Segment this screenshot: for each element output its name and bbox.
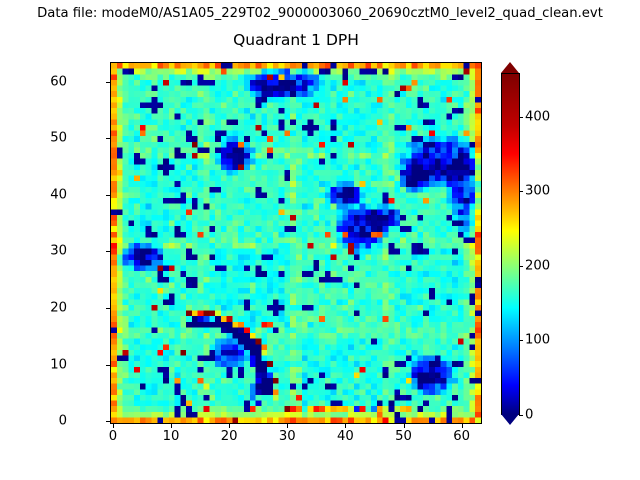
y-tick-label: 0 bbox=[59, 414, 67, 429]
y-tick-label: 20 bbox=[50, 301, 67, 316]
colorbar-tick-mark bbox=[519, 266, 523, 267]
y-tick-mark bbox=[106, 421, 110, 422]
matplotlib-figure: Data file: modeM0/AS1A05_229T02_90000030… bbox=[0, 0, 640, 480]
colorbar-tick-mark bbox=[519, 191, 523, 192]
x-tick-mark bbox=[113, 424, 114, 428]
x-tick-mark bbox=[229, 424, 230, 428]
x-tick-label: 10 bbox=[163, 429, 180, 444]
x-tick-label: 0 bbox=[109, 429, 117, 444]
heatmap-axes bbox=[110, 62, 482, 424]
y-tick-mark bbox=[106, 365, 110, 366]
colorbar-gradient bbox=[501, 73, 520, 415]
x-tick-mark bbox=[171, 424, 172, 428]
x-tick-label: 60 bbox=[453, 429, 470, 444]
y-tick-label: 60 bbox=[50, 74, 67, 89]
colorbar bbox=[501, 62, 520, 425]
y-tick-label: 10 bbox=[50, 357, 67, 372]
colorbar-tick-label: 100 bbox=[525, 333, 550, 348]
y-tick-label: 50 bbox=[50, 131, 67, 146]
detector-pixel-heatmap bbox=[111, 63, 481, 423]
colorbar-extend-top-arrow bbox=[501, 62, 519, 73]
colorbar-tick-mark bbox=[519, 117, 523, 118]
y-tick-mark bbox=[106, 251, 110, 252]
y-tick-mark bbox=[106, 82, 110, 83]
data-file-label: Data file: modeM0/AS1A05_229T02_90000030… bbox=[0, 6, 640, 21]
x-tick-mark bbox=[345, 424, 346, 428]
x-tick-label: 40 bbox=[337, 429, 354, 444]
page-title: Quadrant 1 DPH bbox=[110, 31, 482, 49]
x-tick-mark bbox=[404, 424, 405, 428]
colorbar-tick-mark bbox=[519, 415, 523, 416]
y-tick-label: 40 bbox=[50, 187, 67, 202]
colorbar-tick-label: 0 bbox=[525, 407, 533, 422]
x-tick-label: 30 bbox=[279, 429, 296, 444]
colorbar-tick-label: 200 bbox=[525, 258, 550, 273]
x-tick-mark bbox=[462, 424, 463, 428]
x-tick-mark bbox=[287, 424, 288, 428]
x-tick-label: 20 bbox=[221, 429, 238, 444]
colorbar-extend-bottom-arrow bbox=[501, 414, 519, 425]
y-tick-mark bbox=[106, 138, 110, 139]
colorbar-tick-mark bbox=[519, 340, 523, 341]
x-tick-label: 50 bbox=[395, 429, 412, 444]
y-tick-mark bbox=[106, 308, 110, 309]
y-tick-label: 30 bbox=[50, 244, 67, 259]
y-tick-mark bbox=[106, 195, 110, 196]
colorbar-tick-label: 300 bbox=[525, 184, 550, 199]
colorbar-tick-label: 400 bbox=[525, 110, 550, 125]
